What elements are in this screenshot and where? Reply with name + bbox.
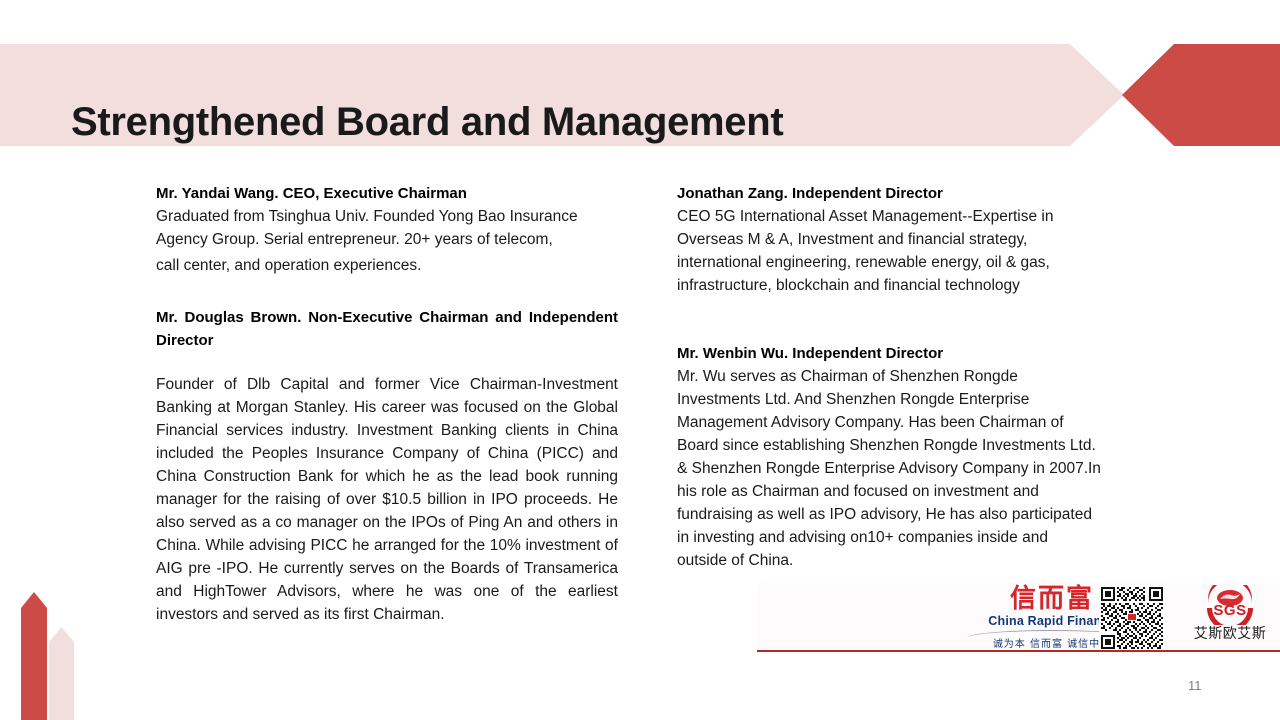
sgs-logo: SGS 艾斯欧艾斯 <box>1182 585 1278 643</box>
bio-line: infrastructure, blockchain and financial… <box>677 274 1142 297</box>
bio-name-wenbin-wu: Mr. Wenbin Wu. Independent Director <box>677 342 1142 365</box>
bio-douglas-brown: Mr. Douglas Brown. Non-Executive Chairma… <box>156 306 618 626</box>
header-accent-chevron <box>1122 44 1280 146</box>
bio-line: Agency Group. Serial entrepreneur. 20+ y… <box>156 228 618 251</box>
bio-line: Board since establishing Shenzhen Rongde… <box>677 434 1142 457</box>
footer-rule <box>757 650 1280 652</box>
up-arrow-icon <box>21 592 47 720</box>
bio-name-douglas-brown: Mr. Douglas Brown. Non-Executive Chairma… <box>156 306 618 352</box>
up-arrow-secondary-icon <box>49 627 74 720</box>
bio-line: CEO 5G International Asset Management--E… <box>677 205 1142 228</box>
page-title: Strengthened Board and Management <box>71 93 783 151</box>
bio-body-douglas-brown: Founder of Dlb Capital and former Vice C… <box>156 373 618 626</box>
bio-jonathan-zang: Jonathan Zang. Independent Director CEO … <box>677 182 1142 297</box>
bio-line: outside of China. <box>677 549 1142 572</box>
bio-line: Investments Ltd. And Shenzhen Rongde Ent… <box>677 388 1142 411</box>
bio-line: Management Advisory Company. Has been Ch… <box>677 411 1142 434</box>
page-number: 11 <box>1188 678 1202 693</box>
bio-line: international engineering, renewable ene… <box>677 251 1142 274</box>
bio-line: Overseas M & A, Investment and financial… <box>677 228 1142 251</box>
bio-line: in investing and advising on10+ companie… <box>677 526 1142 549</box>
bio-line: call center, and operation experiences. <box>156 251 618 280</box>
bio-line: & Shenzhen Rongde Enterprise Advisory Co… <box>677 457 1142 480</box>
bio-line: his role as Chairman and focused on inve… <box>677 480 1142 503</box>
bio-line: Mr. Wu serves as Chairman of Shenzhen Ro… <box>677 365 1142 388</box>
svg-text:SGS: SGS <box>1213 602 1246 619</box>
bio-line: Graduated from Tsinghua Univ. Founded Yo… <box>156 205 618 228</box>
footer-logo-bar: 信而富 China Rapid Finance 诚为本 信而富 诚信中国 <box>757 583 1280 655</box>
sgs-chinese-name: 艾斯欧艾斯 <box>1182 625 1278 643</box>
bio-wenbin-wu: Mr. Wenbin Wu. Independent Director Mr. … <box>677 342 1142 572</box>
sgs-mark-icon: SGS <box>1202 585 1258 625</box>
qr-code-icon <box>1099 585 1165 651</box>
bio-line: fundraising as well as IPO advisory, He … <box>677 503 1142 526</box>
bio-yandai-wang: Mr. Yandai Wang. CEO, Executive Chairman… <box>156 182 618 280</box>
bio-name-yandai-wang: Mr. Yandai Wang. CEO, Executive Chairman <box>156 182 618 205</box>
bio-name-jonathan-zang: Jonathan Zang. Independent Director <box>677 182 1142 205</box>
